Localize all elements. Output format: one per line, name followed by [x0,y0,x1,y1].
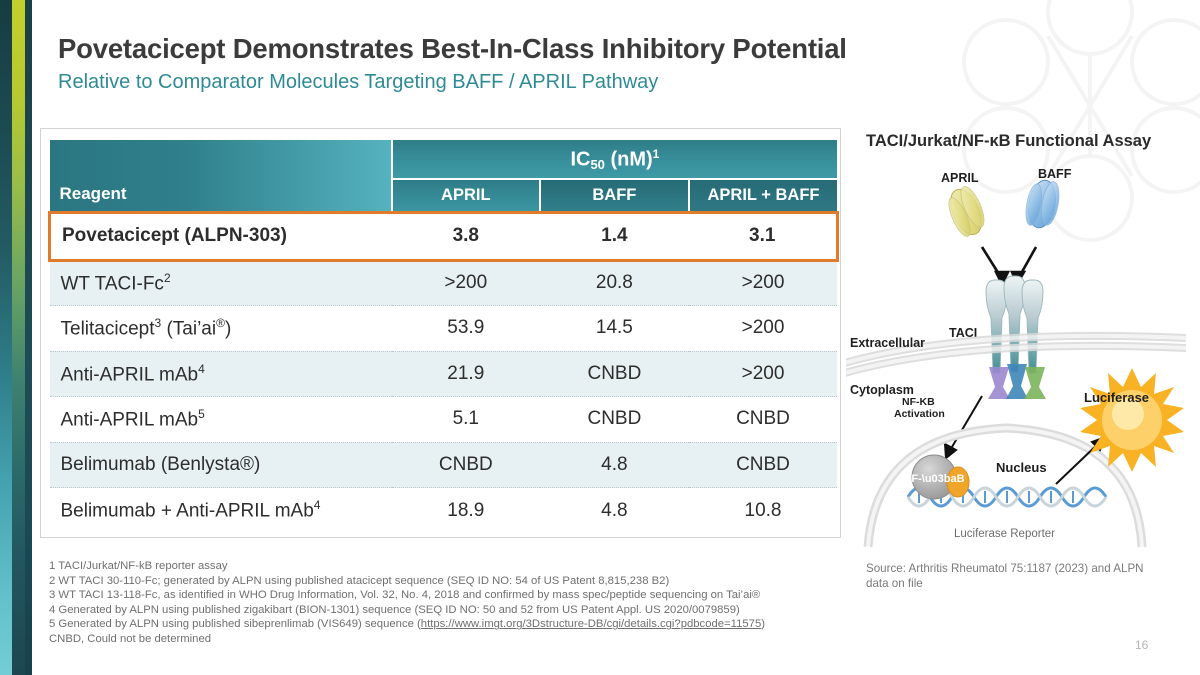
cell-reagent: Belimumab (Benlysta®) [50,442,392,488]
footnotes-block: 1 TACI/Jurkat/NF-kB reporter assay 2 WT … [49,559,839,647]
cell-april: 18.9 [392,488,541,534]
ic50-subscript: 50 [590,157,604,172]
page-number: 16 [1135,638,1148,652]
left-accent-bar-third [25,0,32,675]
cell-baff: 4.8 [540,488,689,534]
footnote-cnbd: CNBD, Could not be determined [49,632,839,647]
cell-reagent: Telitacicept3 (Tai’ai®) [50,306,392,352]
cell-april-baff: 3.1 [689,212,838,260]
cell-reagent: Anti-APRIL mAb4 [50,351,392,397]
taci-receptor-icon [986,276,1043,373]
ic50-group-header: IC50 (nM)1 [392,140,838,179]
ic50-unit: (nM) [605,148,653,170]
footnote-4: 4 Generated by ALPN using published ziga… [49,603,839,618]
cell-april-baff: CNBD [689,442,838,488]
label-april: APRIL [941,171,979,185]
cell-april: CNBD [392,442,541,488]
table-row: Belimumab + Anti-APRIL mAb418.94.810.8 [50,488,838,534]
table-row: Povetacicept (ALPN-303)3.81.43.1 [50,212,838,260]
footnote-5-suffix: ) [761,618,765,630]
reagent-header-label: Reagent [50,146,391,204]
footnote-1: 1 TACI/Jurkat/NF-kB reporter assay [49,559,839,574]
april-ligand-icon [943,184,991,240]
slide-canvas: Povetacicept Demonstrates Best-In-Class … [0,0,1200,675]
table-row: WT TACI-Fc2>20020.8>200 [50,260,838,306]
cell-april-baff: >200 [689,306,838,352]
diagram-title: TACI/Jurkat/NF-κB Functional Assay [866,132,1151,151]
cell-baff: CNBD [540,397,689,443]
footnote-5-link[interactable]: https://www.imgt.org/3Dstructure-DB/cgi/… [421,618,761,630]
receptor-tails-icon [988,364,1046,399]
cell-baff: 4.8 [540,442,689,488]
reagent-header-cell: Reagent [50,140,392,212]
cell-april: 53.9 [392,306,541,352]
page-subtitle: Relative to Comparator Molecules Targeti… [58,71,658,94]
label-extracellular: Extracellular [850,336,925,350]
column-header-baff: BAFF [540,179,689,212]
table-row: Belimumab (Benlysta®)CNBD4.8CNBD [50,442,838,488]
label-nfkb-activation-line2: Activation [894,408,945,420]
cell-reagent: Povetacicept (ALPN-303) [50,212,392,260]
table-row: Anti-APRIL mAb421.9CNBD>200 [50,351,838,397]
cell-baff: 20.8 [540,260,689,306]
label-luciferase: Luciferase [1084,390,1149,405]
label-luciferase-reporter: Luciferase Reporter [954,528,1055,540]
cell-april-baff: CNBD [689,397,838,443]
label-cytoplasm: Cytoplasm [850,383,914,397]
cell-baff: CNBD [540,351,689,397]
cell-april: 3.8 [392,212,541,260]
cell-reagent: Belimumab + Anti-APRIL mAb4 [50,488,392,534]
cell-reagent: WT TACI-Fc2 [50,260,392,306]
cell-april-baff: >200 [689,260,838,306]
diagram-source: Source: Arthritis Rheumatol 75:1187 (202… [866,561,1166,591]
footnote-2: 2 WT TACI 30-110-Fc; generated by ALPN u… [49,574,839,589]
cell-april: 5.1 [392,397,541,443]
left-accent-bar-inner [12,0,25,675]
column-header-april-baff: APRIL + BAFF [689,179,838,212]
label-nfkb-activation-line1: NF-KB [902,396,935,408]
label-nfkb-protein: NF-\u03baB [903,473,964,485]
footnote-5-prefix: 5 Generated by ALPN using published sibe… [49,618,421,630]
column-header-april: APRIL [392,179,541,212]
ic50-text: IC [570,148,590,170]
baff-ligand-icon [1023,178,1062,231]
ic50-footnote-marker: 1 [653,147,660,161]
label-baff: BAFF [1038,167,1072,181]
table-row: Anti-APRIL mAb55.1CNBDCNBD [50,397,838,443]
left-accent-bar-outer [0,0,12,675]
footnote-5: 5 Generated by ALPN using published sibe… [49,617,839,632]
cell-baff: 14.5 [540,306,689,352]
cell-baff: 1.4 [540,212,689,260]
ic50-table: Reagent IC50 (nM)1 APRIL BAFF APRIL + BA… [48,140,839,533]
cell-april-baff: >200 [689,351,838,397]
table-row: Telitacicept3 (Tai’ai®)53.914.5>200 [50,306,838,352]
table-body: Povetacicept (ALPN-303)3.81.43.1WT TACI-… [50,212,838,533]
cell-april-baff: 10.8 [689,488,838,534]
label-nucleus: Nucleus [996,460,1047,475]
cell-reagent: Anti-APRIL mAb5 [50,397,392,443]
cell-april: >200 [392,260,541,306]
page-title: Povetacicept Demonstrates Best-In-Class … [58,33,847,65]
table-header: Reagent IC50 (nM)1 APRIL BAFF APRIL + BA… [50,140,838,212]
footnote-3: 3 WT TACI 13-118-Fc, as identified in WH… [49,588,839,603]
functional-assay-diagram: APRIL BAFF TACI [846,152,1186,552]
cell-april: 21.9 [392,351,541,397]
